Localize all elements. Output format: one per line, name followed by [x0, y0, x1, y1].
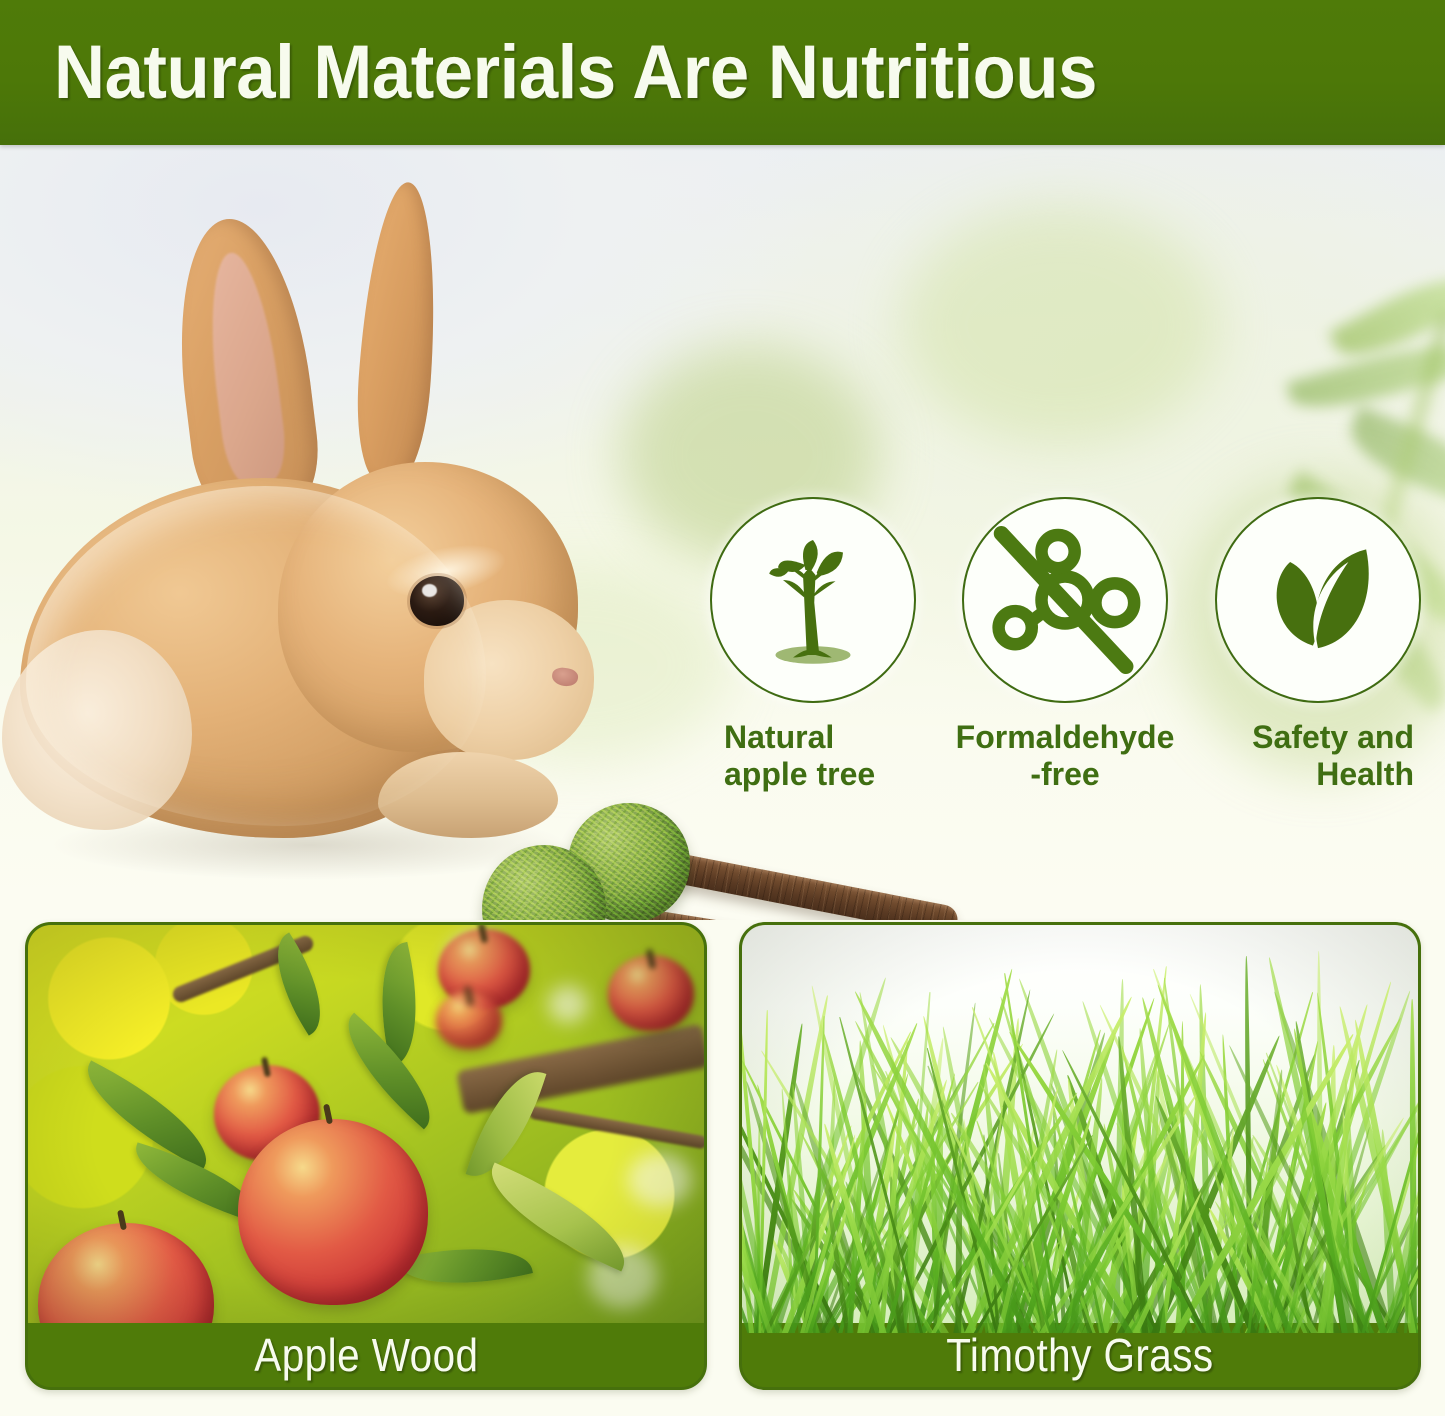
- rabbit-eye: [410, 576, 464, 626]
- product-infographic: Natural Materials Are Nutritious: [0, 0, 1445, 1416]
- two-leaves-icon: [1242, 524, 1394, 676]
- card-caption-text: Timothy Grass: [946, 1328, 1213, 1382]
- feature-icon-wrapper: [1215, 497, 1421, 703]
- feature-icons-row: Natural apple tree: [700, 497, 1430, 797]
- feature-safety-and-health[interactable]: Safety and Health: [1205, 497, 1430, 793]
- feature-label: Natural apple tree: [724, 719, 875, 793]
- feature-icon-wrapper: [710, 497, 916, 703]
- rabbit-ear-right: [352, 180, 445, 484]
- apple-wood-stick: [660, 851, 960, 920]
- background-foliage-blob: [900, 205, 1220, 445]
- feature-natural-apple-tree[interactable]: Natural apple tree: [700, 497, 925, 793]
- feature-label: Safety and Health: [1252, 719, 1414, 793]
- feature-label: Formaldehyde -free: [956, 719, 1175, 793]
- header-banner: Natural Materials Are Nutritious: [0, 0, 1445, 145]
- card-caption: Apple Wood: [28, 1323, 704, 1387]
- material-cards-row: Apple Wood Timothy Grass: [25, 922, 1421, 1390]
- photo-vignette: [28, 925, 704, 1333]
- rabbit-eye-glint: [422, 584, 437, 597]
- timothy-grass-photo: [742, 925, 1418, 1333]
- card-timothy-grass[interactable]: Timothy Grass: [739, 922, 1421, 1390]
- feature-icon-wrapper: [962, 497, 1168, 703]
- feature-formaldehyde-free[interactable]: Formaldehyde -free: [953, 497, 1178, 793]
- page-title: Natural Materials Are Nutritious: [54, 29, 1097, 116]
- sapling-tree-icon: [738, 525, 888, 675]
- apple-wood-photo: [28, 925, 704, 1333]
- card-caption-text: Apple Wood: [254, 1328, 478, 1382]
- hero-photo: Natural apple tree: [0, 145, 1445, 920]
- no-formaldehyde-molecule-icon: [982, 517, 1148, 683]
- card-apple-wood[interactable]: Apple Wood: [25, 922, 707, 1390]
